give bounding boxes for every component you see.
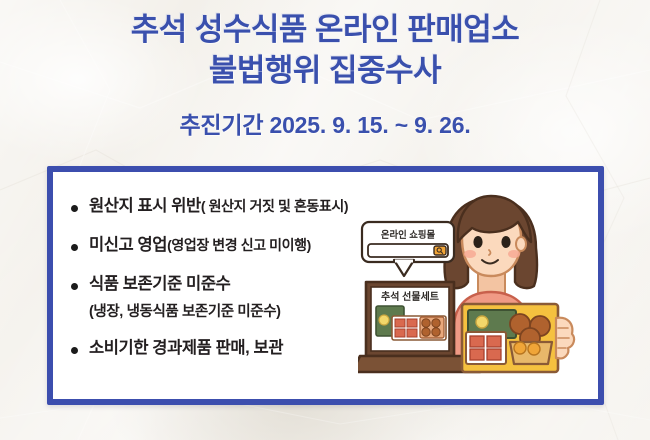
left-eye bbox=[473, 236, 482, 248]
screen-moon-icon bbox=[379, 315, 389, 325]
poster-period-label: 추진기간 2025. 9. 15. ~ 9. 26. bbox=[0, 106, 650, 140]
screen-meat-3 bbox=[395, 329, 405, 337]
screen-meat-4 bbox=[407, 329, 417, 337]
violation-item-detail: ( 원산지 거짓 및 혼동표시) bbox=[201, 198, 348, 214]
screen-meat-1 bbox=[395, 319, 405, 327]
right-cheek-blush bbox=[508, 250, 520, 258]
screen-meat-2 bbox=[407, 319, 417, 327]
violation-item-detail: (영업장 변경 신고 미이행) bbox=[167, 237, 311, 253]
right-eye bbox=[501, 236, 510, 248]
poster-heading: 추석 성수식품 온라인 판매업소 불법행위 집중수사 추진기간 2025. 9.… bbox=[0, 10, 650, 140]
screen-fruit-1 bbox=[422, 319, 430, 327]
gift-box-held bbox=[462, 304, 558, 372]
illustration-svg: 추석 선물세트 bbox=[358, 186, 590, 386]
violations-card: 원산지 표시 위반( 원산지 거짓 및 혼동표시) 미신고 영업(영업장 변경 … bbox=[47, 166, 604, 405]
basket-orange-1 bbox=[514, 342, 526, 354]
screen-fruit-4 bbox=[432, 328, 440, 336]
search-bubble: 온라인 쇼핑몰 bbox=[362, 222, 454, 276]
hand bbox=[556, 318, 574, 359]
online-shopping-illustration: 추석 선물세트 bbox=[358, 186, 590, 386]
left-cheek-blush bbox=[464, 250, 476, 258]
bullet-dot-icon bbox=[71, 283, 78, 290]
poster-title-line-1: 추석 성수식품 온라인 판매업소 bbox=[0, 10, 650, 51]
giftbox-meat-2 bbox=[487, 336, 501, 347]
violation-item-title: 원산지 표시 위반 bbox=[89, 197, 201, 215]
poster-title-line-2: 불법행위 집중수사 bbox=[0, 51, 650, 92]
ear bbox=[516, 237, 526, 251]
violation-item-title: 식품 보존기준 미준수 bbox=[89, 275, 230, 293]
giftbox-meat-1 bbox=[470, 336, 484, 347]
bullet-dot-icon bbox=[71, 347, 78, 354]
screen-fruit-3 bbox=[422, 328, 430, 336]
search-button[interactable] bbox=[434, 246, 446, 255]
bullet-dot-icon bbox=[71, 205, 78, 212]
search-bubble-label: 온라인 쇼핑몰 bbox=[381, 229, 436, 240]
giftbox-meat-4 bbox=[487, 349, 501, 360]
violation-item-title: 미신고 영업 bbox=[89, 236, 167, 254]
giftbox-meat-3 bbox=[470, 349, 484, 360]
giftbox-moon-icon bbox=[476, 316, 488, 328]
screen-fruit-2 bbox=[432, 319, 440, 327]
bullet-dot-icon bbox=[71, 244, 78, 251]
laptop-screen-label: 추석 선물세트 bbox=[381, 290, 439, 303]
basket-orange-2 bbox=[528, 343, 540, 355]
violation-item-title: 소비기한 경과제품 판매, 보관 bbox=[89, 339, 283, 357]
